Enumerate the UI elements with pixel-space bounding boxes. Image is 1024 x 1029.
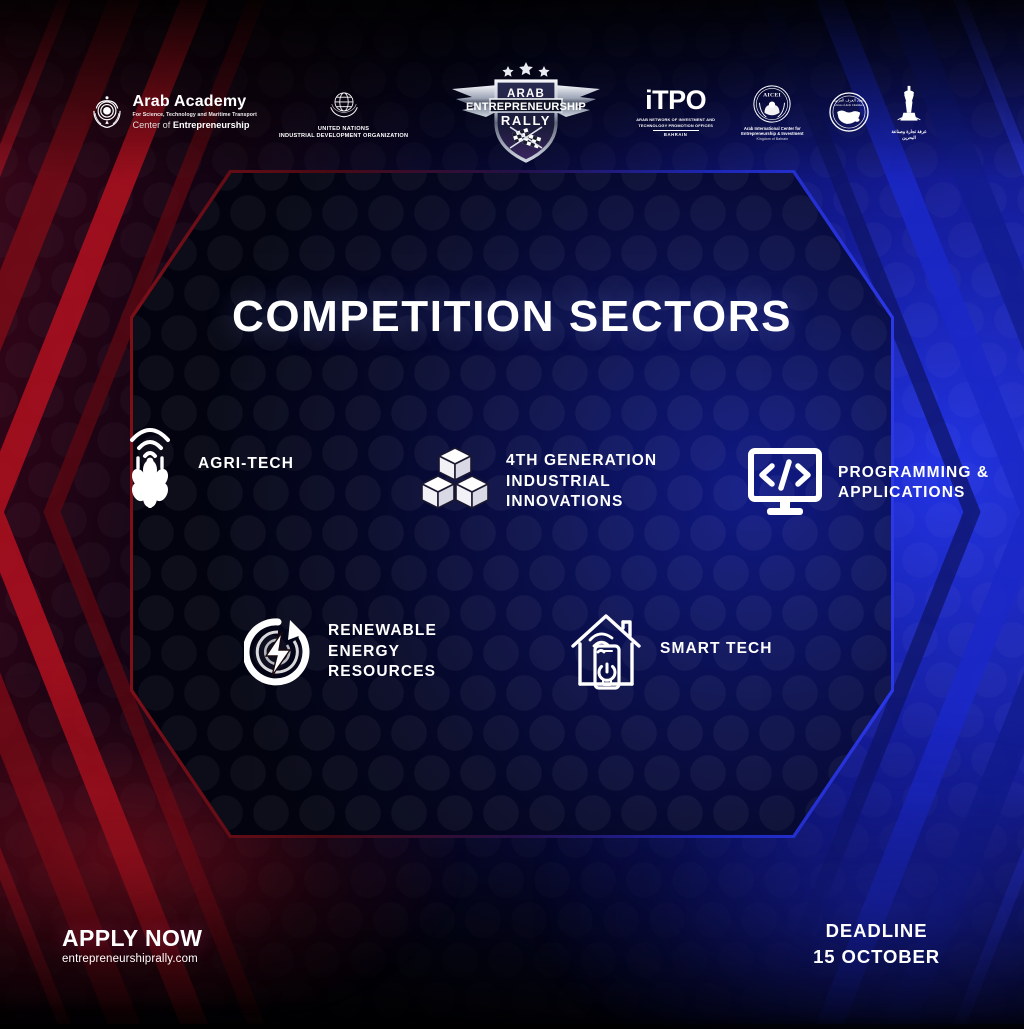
badge-line3: RALLY: [501, 113, 551, 128]
unido-globe-icon: [327, 86, 361, 120]
deadline-date: 15 OCTOBER: [813, 944, 940, 970]
cubes-icon: [420, 446, 490, 518]
wheat-wifi-icon: [118, 418, 182, 510]
itpo-country: BAHRAIN: [664, 132, 688, 137]
page-title: COMPETITION SECTORS: [0, 292, 1024, 342]
logo-arab-academy: Arab Academy For Science, Technology and…: [88, 93, 257, 131]
badge-line2: ENTREPRENEURSHIP: [466, 101, 586, 113]
itpo-line2: TECHNOLOGY PROMOTION OFFICES: [638, 123, 713, 128]
logo-rally-badge: ARAB ENTREPRENEURSHIP RALLY: [446, 55, 606, 173]
apply-now-url[interactable]: entrepreneurshiprally.com: [62, 953, 202, 965]
smart-home-icon: [568, 608, 644, 690]
apply-now-label[interactable]: APPLY NOW: [62, 925, 202, 952]
apply-now-block[interactable]: APPLY NOW entrepreneurshiprally.com: [62, 925, 202, 965]
arab-academy-unit: Center of Entrepreneurship: [133, 121, 257, 130]
sector-label-smart-tech: SMART TECH: [660, 639, 773, 659]
sector-item-programming: PROGRAMMING & APPLICATIONS: [748, 448, 989, 518]
union-arab-chambers-seal-icon: اتحاد الغرف العربية Union of Arab Chambe…: [828, 91, 870, 133]
logo-unido: UNIDO UNITED NATIONS INDUSTRIAL DEVELOPM…: [279, 86, 408, 139]
unido-line1: UNITED NATIONS: [318, 126, 369, 132]
sector-item-smart-tech: SMART TECH: [568, 608, 773, 690]
aicei-line2: Entrepreneurship & Investment: [741, 131, 803, 136]
sector-label-agri-tech: AGRI-TECH: [198, 454, 294, 474]
tower-monument-icon: [892, 83, 926, 127]
itpo-divider: [653, 130, 699, 131]
aicei-line3: Kingdom of Bahrain: [757, 137, 789, 141]
badge-line1: ARAB: [507, 88, 545, 100]
monitor-code-icon: [748, 448, 822, 518]
sector-item-4th-generation: 4TH GENERATION INDUSTRIAL INNOVATIONS: [420, 446, 657, 518]
arab-academy-subtitle: For Science, Technology and Maritime Tra…: [133, 113, 257, 118]
unido-line2: INDUSTRIAL DEVELOPMENT ORGANIZATION: [279, 133, 408, 139]
recycle-bolt-icon: [244, 618, 312, 686]
aicei-seal-icon: AICEI: [752, 84, 792, 124]
svg-text:Union of Arab Chambers: Union of Arab Chambers: [834, 103, 864, 107]
logo-union-arab-chambers: اتحاد الغرف العربية Union of Arab Chambe…: [828, 91, 870, 133]
itpo-wordmark: iTPO: [645, 87, 706, 114]
sector-label-programming: PROGRAMMING & APPLICATIONS: [838, 463, 989, 504]
deadline-label: DEADLINE: [813, 918, 940, 944]
logo-aicei: AICEI Arab International Center for Entr…: [741, 84, 803, 141]
svg-text:اتحاد الغرف العربية: اتحاد الغرف العربية: [833, 98, 864, 103]
sector-label-renewable-energy: RENEWABLE ENERGY RESOURCES: [328, 621, 437, 682]
arab-academy-crest-icon: [88, 93, 126, 131]
deadline-block: DEADLINE 15 OCTOBER: [813, 918, 940, 971]
rally-badge-icon: ARAB ENTREPRENEURSHIP RALLY: [446, 55, 606, 173]
sector-item-renewable-energy: RENEWABLE ENERGY RESOURCES: [244, 618, 437, 686]
logo-bahrain-chamber: غرفة تجارة وصناعة البحرين: [892, 83, 927, 141]
sector-label-4th-generation: 4TH GENERATION INDUSTRIAL INNOVATIONS: [506, 451, 657, 512]
itpo-line1: ARAB NETWORK OF INVESTMENT AND: [636, 117, 715, 122]
bahrain-chamber-line2: البحرين: [902, 135, 916, 141]
logo-itpo: iTPO ARAB NETWORK OF INVESTMENT AND TECH…: [636, 87, 715, 137]
arab-academy-name: Arab Academy: [133, 94, 257, 110]
sponsor-logo-bar: Arab Academy For Science, Technology and…: [0, 56, 1024, 168]
svg-text:AICEI: AICEI: [763, 92, 781, 98]
sector-item-agri-tech: AGRI-TECH: [118, 418, 294, 510]
